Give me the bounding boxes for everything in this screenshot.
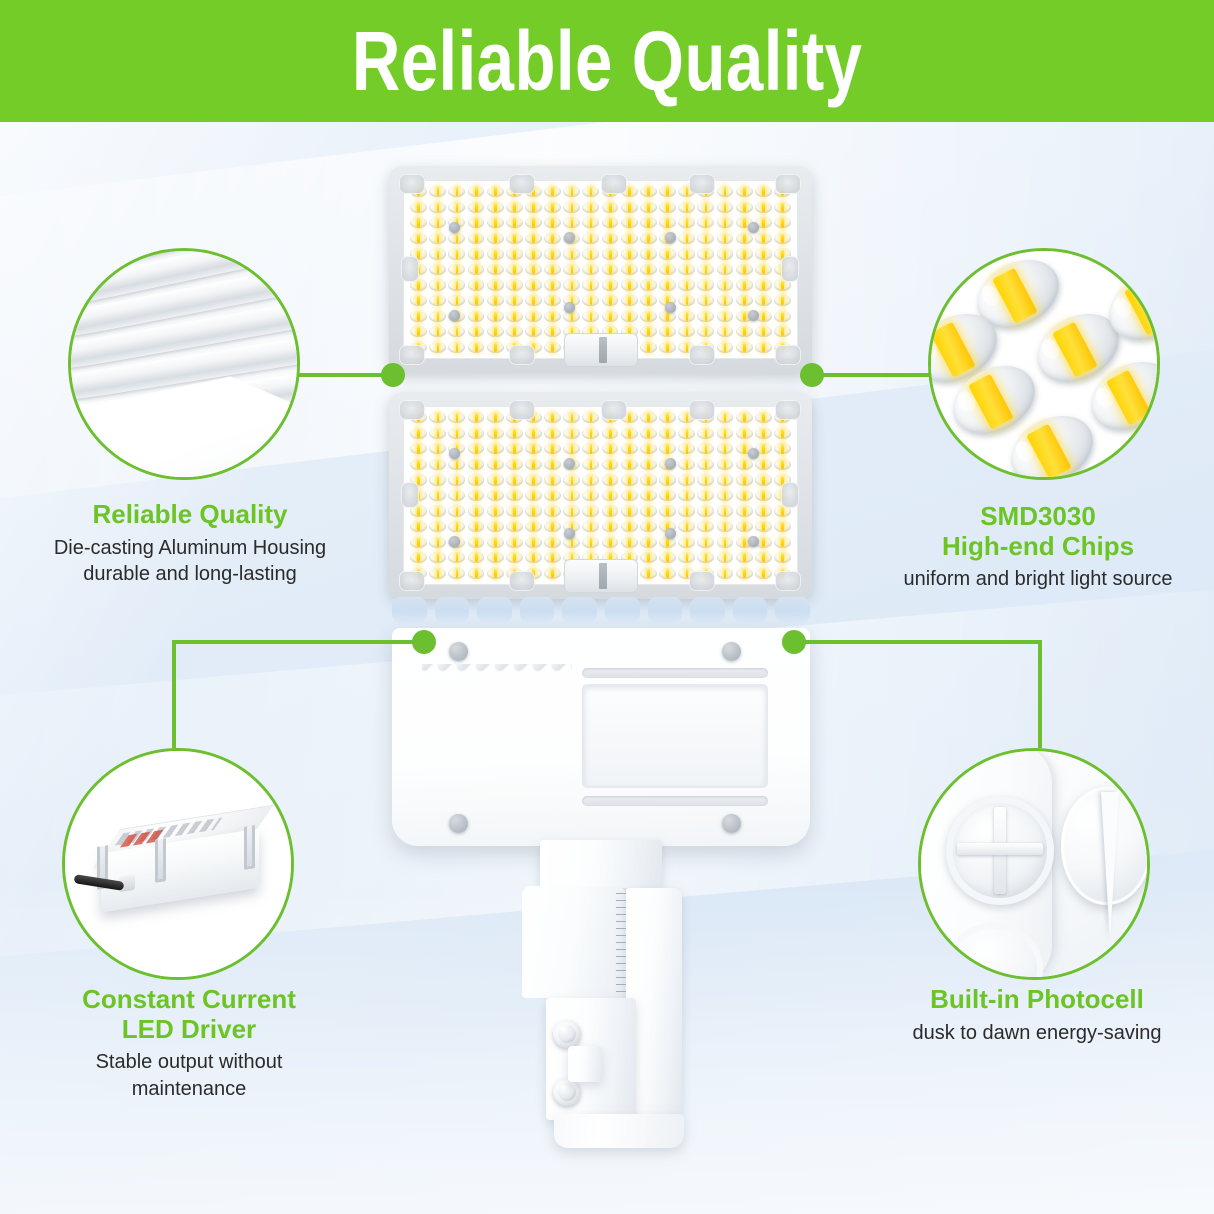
infographic-page: Reliable Quality: [0, 0, 1214, 1214]
callout-heading: Constant Current LED Driver: [0, 985, 378, 1044]
callout-heading: SMD3030 High-end Chips: [862, 502, 1214, 561]
callout-reliable-quality: Reliable Quality Die-casting Aluminum Ho…: [0, 500, 380, 587]
detail-circle-photocell[interactable]: [918, 748, 1150, 980]
banner-title: Reliable Quality: [352, 19, 863, 103]
callout-smd3030-chips: SMD3030 High-end Chips uniform and brigh…: [862, 502, 1214, 593]
header-banner: Reliable Quality: [0, 0, 1214, 122]
aluminum-fins-icon: [68, 248, 300, 480]
photocell-sensor-icon: [921, 751, 1147, 977]
callout-subtext: dusk to dawn energy-saving: [860, 1020, 1214, 1046]
led-driver-icon: [65, 751, 291, 977]
callout-subtext: Die-casting Aluminum Housing durable and…: [0, 535, 380, 588]
detail-circle-aluminum-housing[interactable]: [68, 248, 300, 480]
led-chip-icon: [931, 251, 1157, 477]
callout-heading: Reliable Quality: [0, 500, 380, 530]
callout-heading: Built-in Photocell: [860, 985, 1214, 1015]
callout-constant-current-driver: Constant Current LED Driver Stable outpu…: [0, 985, 378, 1102]
callout-subtext: uniform and bright light source: [862, 566, 1214, 592]
detail-circle-led-driver[interactable]: [62, 748, 294, 980]
callout-subtext: Stable output without maintenance: [0, 1049, 378, 1102]
callout-built-in-photocell: Built-in Photocell dusk to dawn energy-s…: [860, 985, 1214, 1046]
detail-circle-smd-chips[interactable]: [928, 248, 1160, 480]
